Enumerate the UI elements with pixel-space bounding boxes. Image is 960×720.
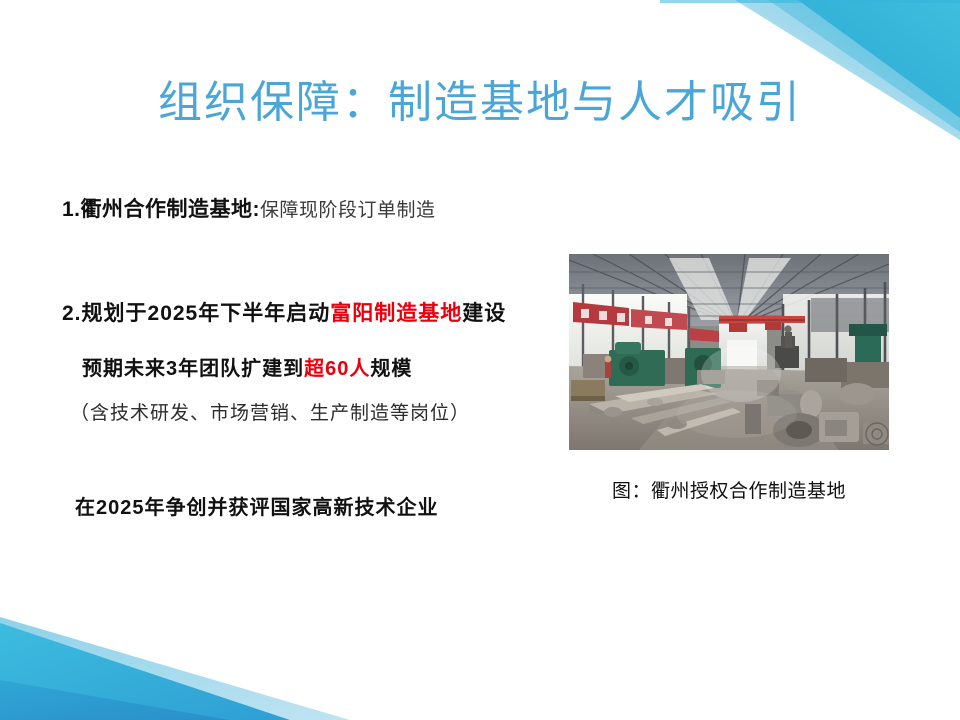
bullet-2-suffix: 建设 bbox=[462, 302, 506, 325]
slide-canvas: 组织保障：制造基地与人才吸引 1.衢州合作制造基地:保障现阶段订单制造 2.规划… bbox=[0, 0, 960, 720]
photo-caption: 图：衢州授权合作制造基地 bbox=[569, 476, 889, 503]
bullet-line-2: 2.规划于2025年下半年启动富阳制造基地建设 bbox=[62, 297, 506, 327]
bullet-1-strong: 1.衢州合作制造基地: bbox=[62, 198, 260, 221]
bullet-2-prefix: 2.规划于2025年下半年启动 bbox=[62, 302, 330, 325]
bullet-line-4: （含技术研发、市场营销、生产制造等岗位） bbox=[70, 398, 470, 425]
corner-ribbon-bottom-left-icon bbox=[0, 585, 420, 720]
bullet-3-suffix: 规模 bbox=[370, 358, 412, 380]
bullet-3-prefix: 预期未来3年团队扩建到 bbox=[82, 358, 304, 380]
bullet-line-5: 在2025年争创并获评国家高新技术企业 bbox=[75, 491, 439, 520]
factory-workshop-photo bbox=[569, 254, 889, 450]
bullet-2-highlight: 富阳制造基地 bbox=[330, 302, 462, 325]
bullet-line-1: 1.衢州合作制造基地:保障现阶段订单制造 bbox=[62, 193, 436, 223]
factory-workshop-illustration bbox=[569, 254, 889, 450]
bullet-line-3: 预期未来3年团队扩建到超60人规模 bbox=[82, 352, 412, 381]
bullet-3-highlight: 超60人 bbox=[304, 358, 370, 380]
page-title: 组织保障：制造基地与人才吸引 bbox=[0, 66, 960, 130]
bullet-1-light: 保障现阶段订单制造 bbox=[260, 200, 436, 221]
